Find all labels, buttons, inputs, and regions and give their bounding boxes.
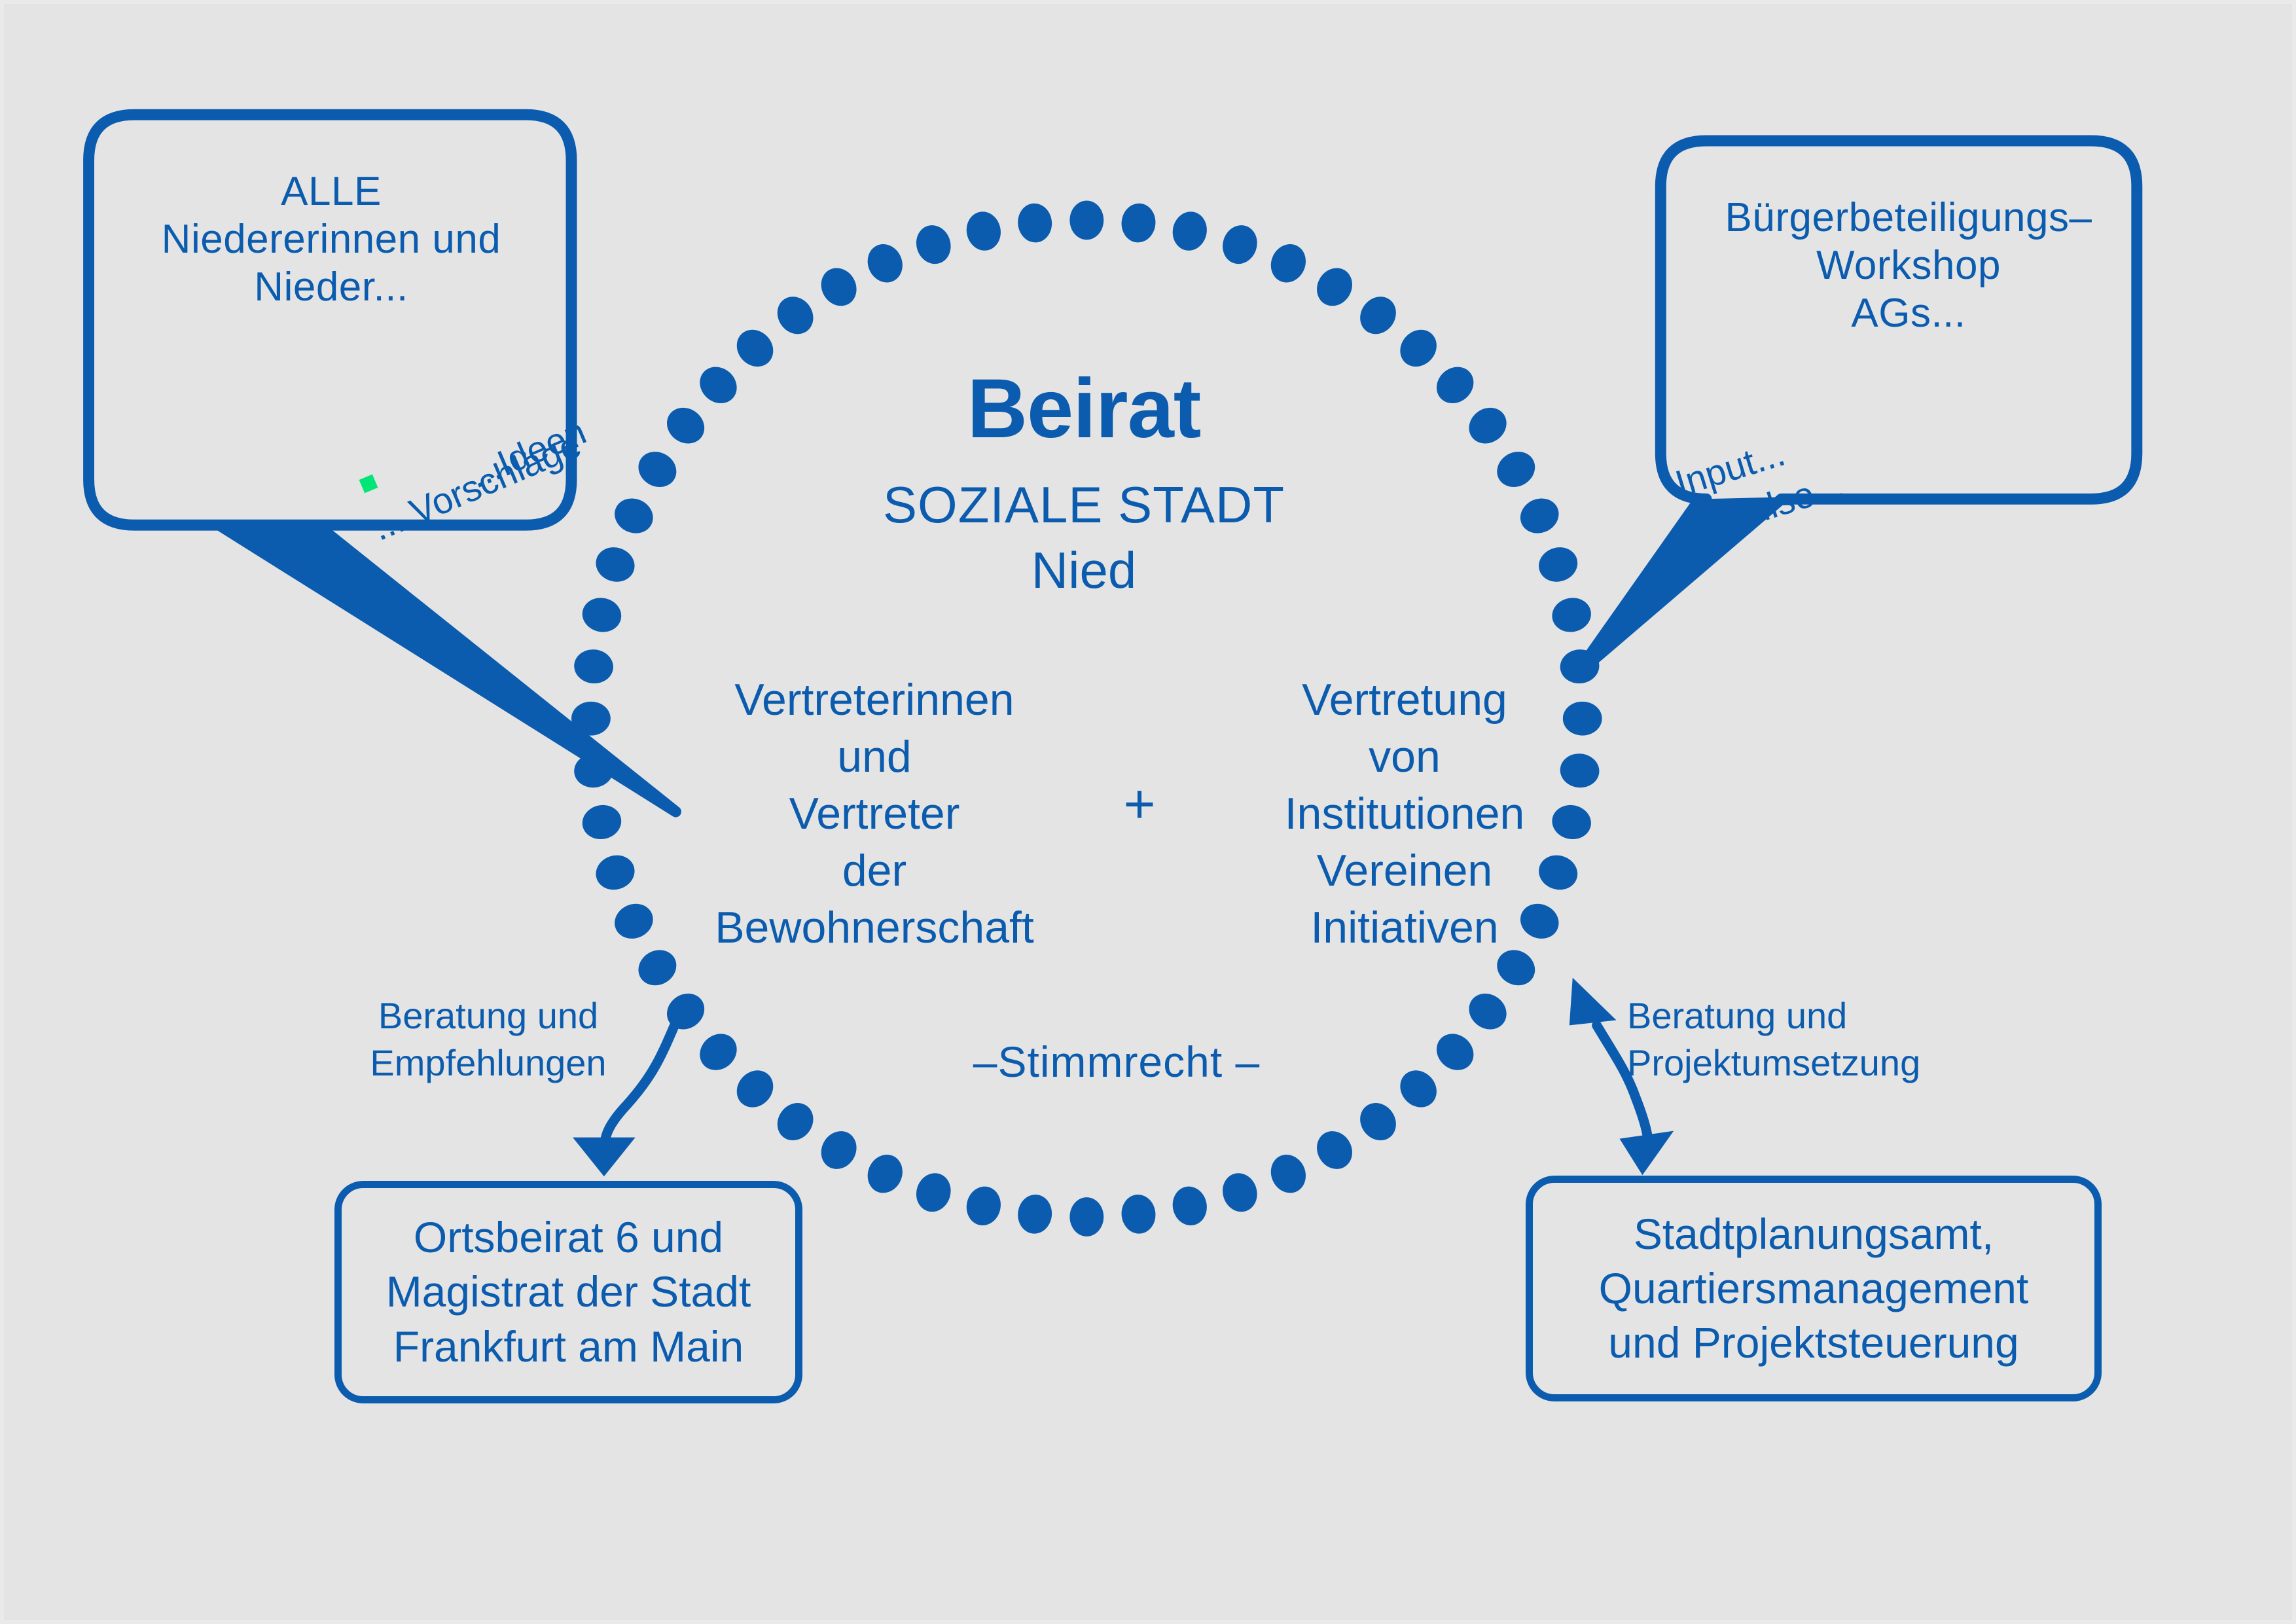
ring-dot — [1217, 1168, 1262, 1216]
ring-dot — [1429, 359, 1481, 410]
ring-dot — [911, 1168, 956, 1216]
ring-dot — [1462, 401, 1514, 451]
ring-dot — [1515, 492, 1564, 539]
ring-dot — [1120, 202, 1158, 244]
ring-dot — [911, 221, 956, 268]
ring-dot — [1429, 1026, 1481, 1077]
ring-dot — [692, 359, 744, 410]
center-subtitle-line1: SOZIALE STADT — [757, 475, 1411, 535]
ring-dot — [1534, 543, 1582, 587]
center-column-left: Vertreterinnen und Vertreter der Bewohne… — [672, 672, 1077, 956]
plus-operator-icon: + — [1077, 776, 1202, 831]
diagram-canvas: ALLE Niedererinnen und Nieder... Bürgerb… — [0, 0, 2296, 1624]
annotation-vorschlaege: ... Vorschläge — [365, 421, 588, 552]
ring-dot — [609, 492, 659, 539]
ring-dot — [1265, 1149, 1312, 1199]
ring-dot — [1217, 221, 1262, 268]
box-stadtplanungsamt[interactable]: Stadtplanungsamt, Quartiersmanagement un… — [1526, 1176, 2102, 1401]
ring-dot — [609, 898, 659, 945]
center-subtitle-line2: Nied — [757, 541, 1411, 600]
green-dot-marker — [359, 475, 378, 494]
ring-dot — [571, 702, 611, 736]
ring-dot — [592, 850, 639, 895]
center-title: Beirat — [757, 361, 1411, 457]
ring-dot — [770, 1096, 821, 1147]
annotation-beratung-empfehlungen: Beratung und Empfehlungen — [344, 992, 632, 1086]
center-column-right: Vertretung von Institutionen Vereinen In… — [1202, 672, 1607, 956]
ring-dot — [1353, 289, 1403, 341]
box-stadtplanungsamt-label: Stadtplanungsamt, Quartiersmanagement un… — [1599, 1207, 2029, 1370]
speech-bubble-top-left-text: ALLE Niedererinnen und Nieder... — [102, 168, 560, 311]
ring-dot — [632, 445, 683, 494]
ring-dot — [1265, 238, 1312, 288]
ring-dot — [729, 1063, 781, 1115]
ring-dot — [1169, 208, 1210, 253]
speech-bubble-top-right-text: Bürgerbeteiligungs– Workshop AGs... — [1679, 194, 2138, 337]
ring-dot — [814, 262, 863, 313]
ring-dot — [1353, 1096, 1403, 1147]
ring-dot — [963, 208, 1004, 253]
annotation-input-impulse: Input... Impulse... — [1670, 416, 1850, 553]
ring-dot — [1016, 1193, 1054, 1235]
ring-dot — [1490, 445, 1541, 494]
center-footnote-stimmrecht: –Stimmrecht – — [822, 1037, 1411, 1087]
ring-dot — [1069, 1197, 1103, 1236]
ring-dot — [1169, 1183, 1210, 1229]
ring-dot — [963, 1183, 1004, 1229]
annotation-beratung-projektumsetzung: Beratung und Projektumsetzung — [1627, 992, 1967, 1086]
ring-dot — [861, 238, 908, 288]
ring-dot — [1310, 262, 1359, 313]
ring-dot — [573, 751, 615, 789]
ring-dot — [573, 647, 615, 685]
ring-dot — [1069, 201, 1103, 240]
ring-dot — [592, 543, 639, 587]
ring-dot — [1016, 202, 1054, 244]
ring-dot — [1462, 986, 1514, 1037]
ring-dot — [770, 289, 821, 341]
ring-dot — [1310, 1125, 1359, 1176]
ring-dot — [692, 1026, 744, 1077]
ring-dot — [579, 594, 624, 636]
ring-dot — [660, 986, 711, 1037]
ring-dot — [579, 801, 624, 842]
box-ortsbeirat-magistrat[interactable]: Ortsbeirat 6 und Magistrat der Stadt Fra… — [334, 1181, 802, 1403]
box-ortsbeirat-magistrat-label: Ortsbeirat 6 und Magistrat der Stadt Fra… — [386, 1210, 751, 1373]
ring-dot — [660, 401, 711, 451]
ring-dot — [861, 1149, 908, 1199]
ring-dot — [814, 1125, 863, 1176]
ring-dot — [1120, 1193, 1158, 1235]
ring-dot — [1549, 594, 1594, 636]
